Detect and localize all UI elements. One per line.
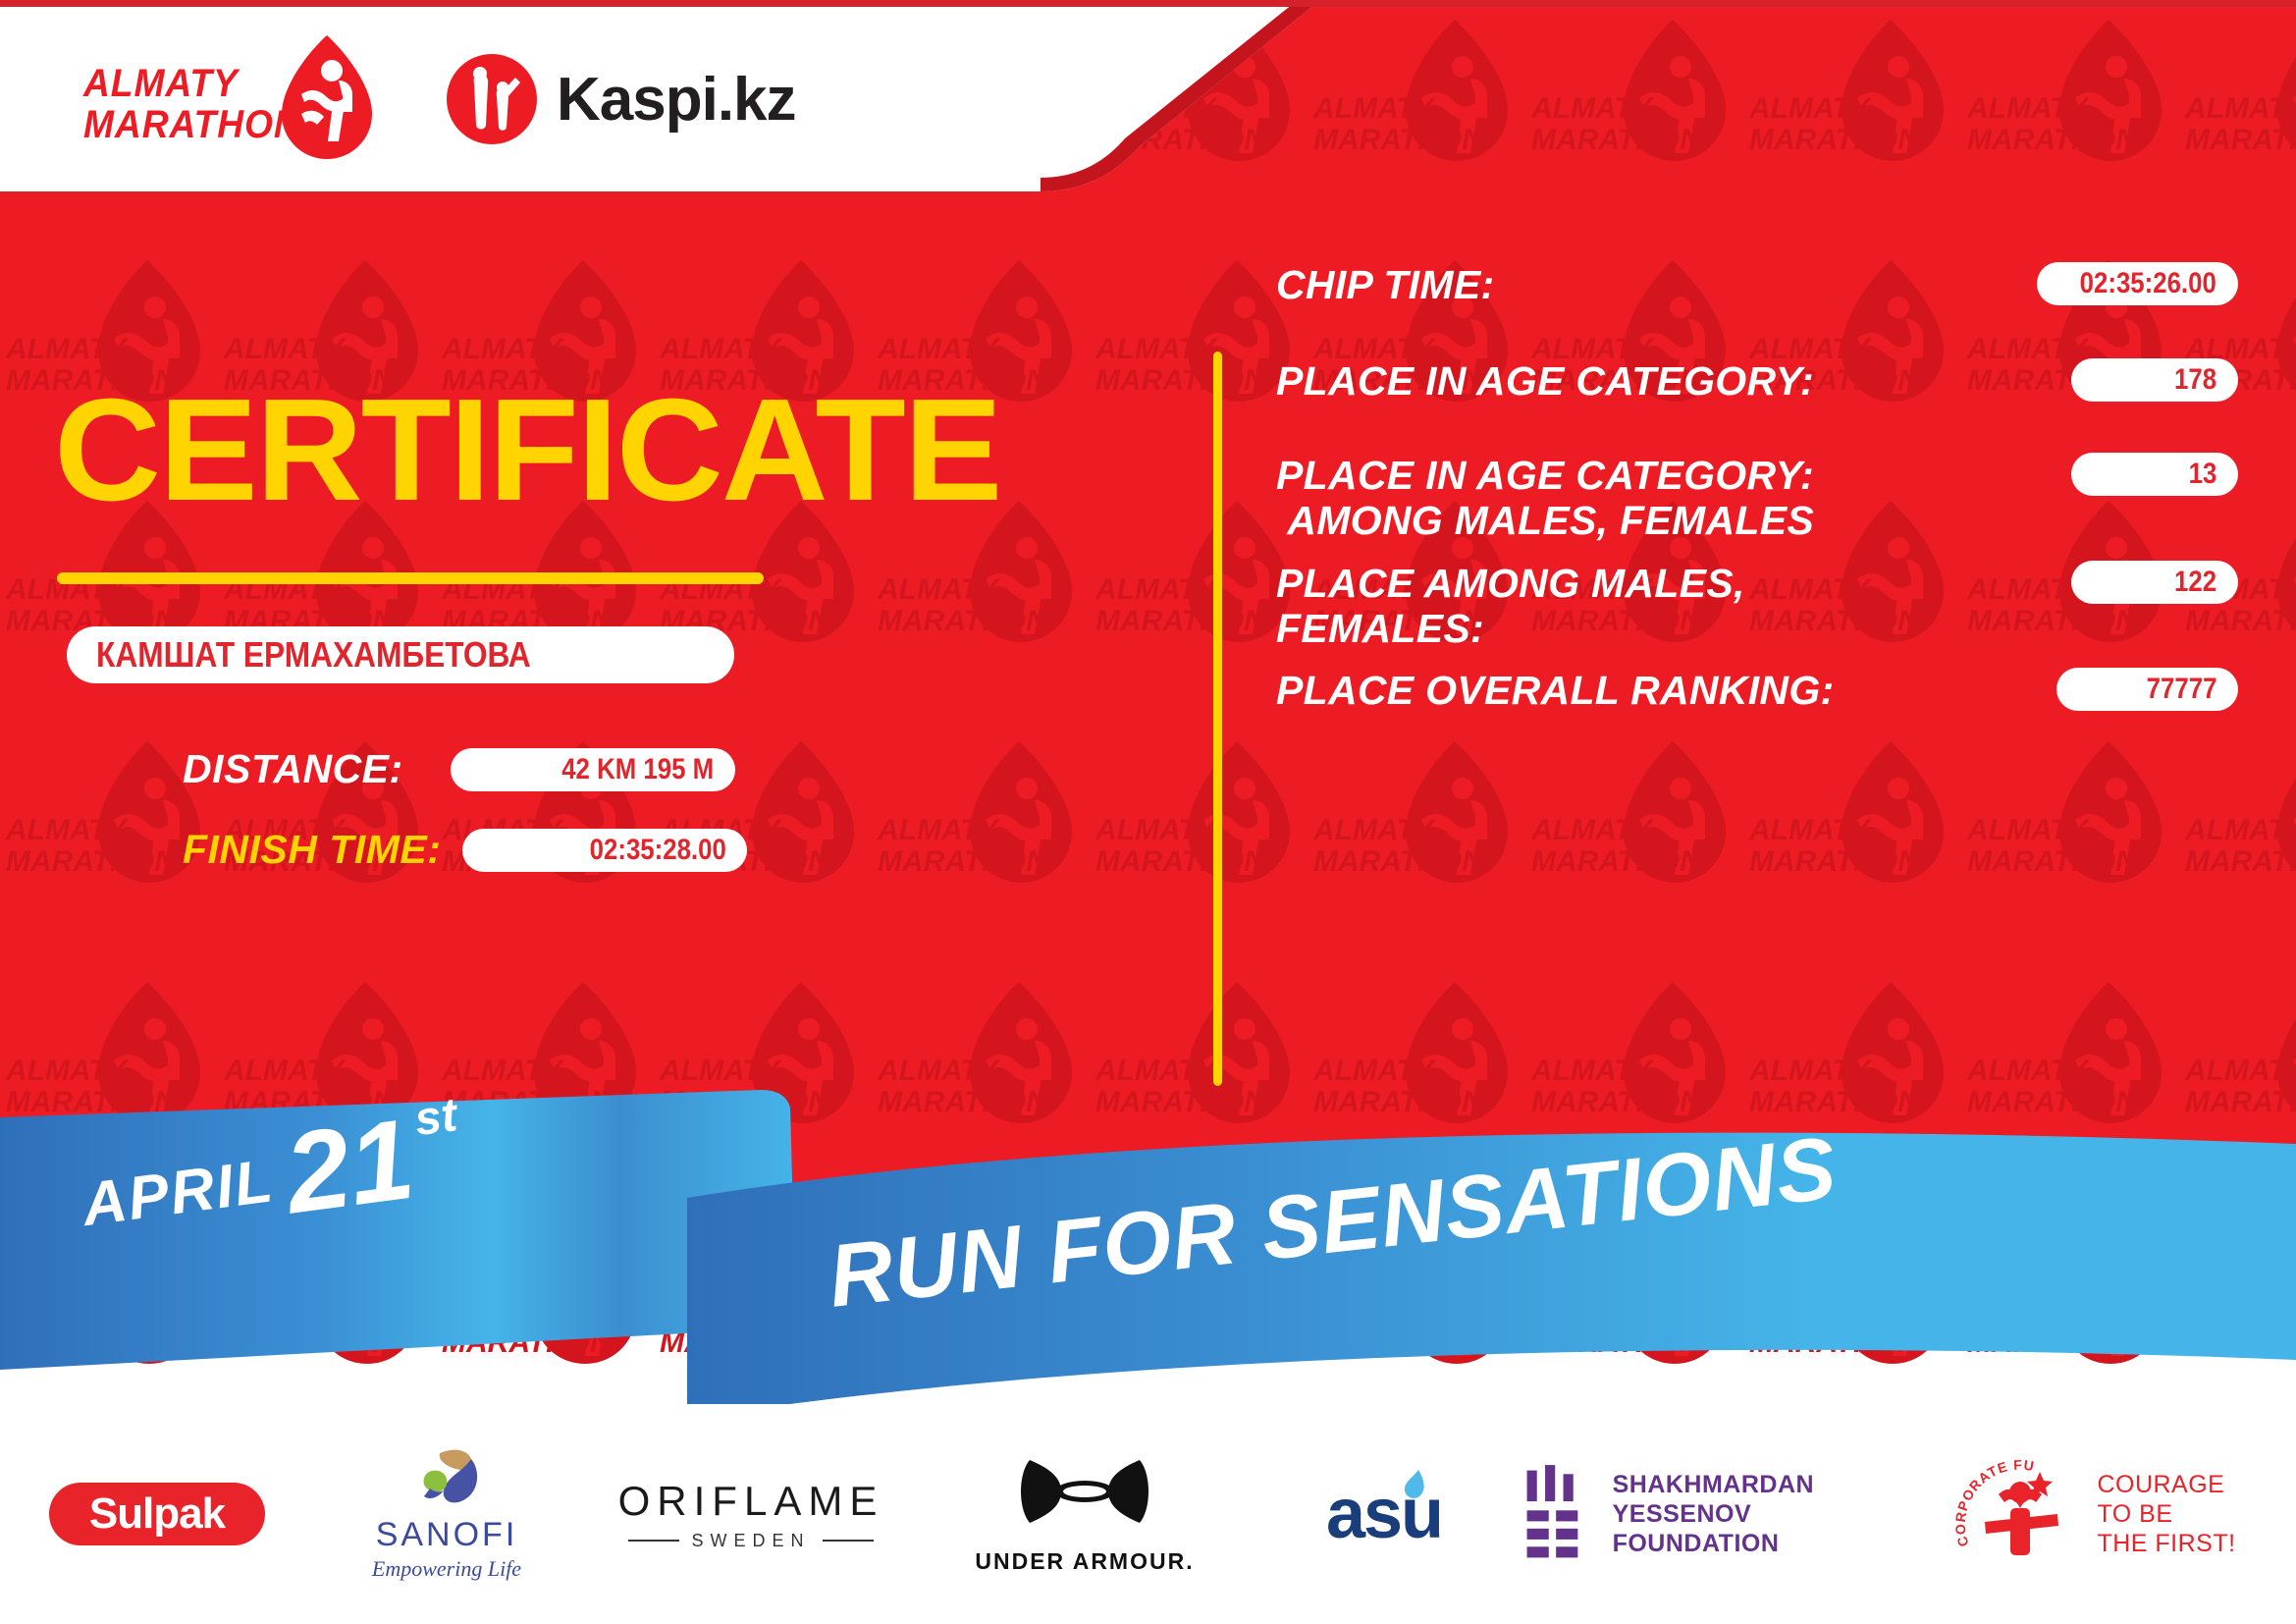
asu-wordmark: asu	[1326, 1474, 1442, 1554]
sponsor-asu: asu	[1247, 1474, 1522, 1554]
finish-time-label: FINISH TIME:	[183, 827, 441, 873]
asu-droplet-icon	[1395, 1468, 1428, 1507]
sponsor-courage-to-be-first: CORPORATE FUND COURAGE TO BE THE FIRST!	[1934, 1453, 2258, 1576]
participant-name-text: КАМШАТ ЕРМАХАМБЕТОВА	[96, 634, 531, 676]
kaspi-people-icon	[447, 54, 537, 144]
result-value-pill: 178	[2071, 358, 2238, 402]
courage-runner-icon: CORPORATE FUND	[1955, 1453, 2083, 1576]
oriflame-wordmark: ORIFLAME	[618, 1478, 884, 1525]
sponsor-yessenov-foundation: SHAKHMARDAN YESSENOV FOUNDATION	[1522, 1461, 1934, 1567]
certificate-title: CERTIFICATE	[54, 378, 1000, 523]
result-value: 178	[2174, 363, 2216, 397]
kaspi-wordmark: Kaspi.kz	[557, 65, 796, 135]
almaty-logo-line2: MARATHON	[83, 104, 275, 145]
left-column: CERTIFICATE КАМШАТ ЕРМАХАМБЕТОВА DISTANC…	[0, 191, 1217, 1173]
distance-label: DISTANCE:	[183, 746, 403, 792]
result-value-pill: 122	[2071, 561, 2238, 604]
courage-wordmark: COURAGE TO BE THE FIRST!	[2097, 1470, 2235, 1558]
finish-time-value-pill: 02:35:28.00	[462, 829, 747, 872]
ribbon-day: 21	[281, 1111, 418, 1221]
courage-line2: TO BE	[2097, 1499, 2235, 1529]
sponsor-sulpak: Sulpak	[0, 1483, 314, 1545]
result-label: PLACE AMONG MALES, FEMALES:	[1222, 561, 1745, 651]
title-underline-rule	[57, 572, 764, 584]
yellow-vertical-divider	[1213, 352, 1222, 1086]
ribbon-ordinal: st	[411, 1088, 460, 1147]
result-value-pill: 77777	[2056, 668, 2238, 711]
result-row-overall-ranking: PLACE OVERALL RANKING: 77777	[1222, 668, 2238, 713]
result-row-chip-time: CHIP TIME: 02:35:26.00	[1222, 262, 2238, 307]
finish-time-row: FINISH TIME: 02:35:28.00	[183, 827, 747, 873]
result-label: PLACE OVERALL RANKING:	[1222, 668, 1834, 713]
result-row-place-among-gender: PLACE AMONG MALES, FEMALES: 122	[1222, 561, 2238, 651]
kaspi-logo: Kaspi.kz	[447, 54, 796, 144]
top-red-rule	[0, 0, 2296, 7]
yessenov-line1: SHAKHMARDAN YESSENOV	[1613, 1470, 1934, 1529]
certificate-page: ALMATY MARATHON Kaspi.kz CERTIFICATE КА	[0, 0, 2296, 1624]
result-value: 02:35:26.00	[2080, 267, 2216, 300]
result-value-pill: 02:35:26.00	[2037, 262, 2238, 305]
almaty-runner-drop-icon	[278, 33, 376, 161]
oriflame-sub: SWEDEN	[628, 1531, 873, 1551]
sanofi-bird-icon	[402, 1447, 491, 1516]
yessenov-line2: FOUNDATION	[1613, 1529, 1934, 1558]
under-armour-icon	[1016, 1454, 1153, 1541]
yessenov-bars-icon	[1522, 1461, 1587, 1567]
yessenov-wordmark: SHAKHMARDAN YESSENOV FOUNDATION	[1613, 1470, 1934, 1558]
under-armour-wordmark: UNDER ARMOUR.	[975, 1548, 1194, 1575]
result-row-place-age-category: PLACE IN AGE CATEGORY: 178	[1222, 358, 2238, 404]
sponsor-sanofi: SANOFI Empowering Life	[314, 1447, 579, 1582]
participant-name-field: КАМШАТ ЕРМАХАМБЕТОВА	[67, 626, 734, 683]
ribbon-month: APRIL	[79, 1146, 279, 1240]
courage-line3: THE FIRST!	[2097, 1529, 2235, 1558]
sponsor-footer: Sulpak SANOFI Empowering Life ORIFLAME S…	[0, 1404, 2296, 1624]
result-value-pill: 13	[2071, 453, 2238, 496]
result-label: CHIP TIME:	[1222, 262, 1494, 307]
almaty-marathon-logo: ALMATY MARATHON	[83, 41, 378, 159]
result-row-place-age-category-gender: PLACE IN AGE CATEGORY: AMONG MALES, FEMA…	[1222, 453, 2238, 543]
sanofi-tagline: Empowering Life	[372, 1556, 521, 1582]
oriflame-rule-left	[628, 1540, 679, 1542]
distance-row: DISTANCE: 42 KM 195 M	[183, 746, 735, 792]
result-label: PLACE IN AGE CATEGORY: AMONG MALES, FEMA…	[1222, 453, 1814, 543]
almaty-logo-line1: ALMATY	[83, 63, 275, 104]
result-value: 13	[2188, 458, 2216, 491]
result-label: PLACE IN AGE CATEGORY:	[1222, 358, 1814, 404]
sulpak-wordmark: Sulpak	[89, 1489, 225, 1539]
distance-value: 42 KM 195 M	[561, 753, 714, 786]
finish-time-value: 02:35:28.00	[589, 834, 725, 867]
sanofi-wordmark: SANOFI	[376, 1516, 518, 1554]
sponsor-under-armour: UNDER ARMOUR.	[923, 1454, 1247, 1575]
result-value: 122	[2174, 566, 2216, 599]
result-value: 77777	[2146, 673, 2216, 706]
oriflame-tagline: SWEDEN	[691, 1531, 810, 1551]
sulpak-logo: Sulpak	[49, 1483, 265, 1545]
sponsor-oriflame: ORIFLAME SWEDEN	[579, 1478, 923, 1551]
courage-line1: COURAGE	[2097, 1470, 2235, 1499]
distance-value-pill: 42 KM 195 M	[451, 748, 735, 791]
oriflame-rule-right	[823, 1540, 874, 1542]
